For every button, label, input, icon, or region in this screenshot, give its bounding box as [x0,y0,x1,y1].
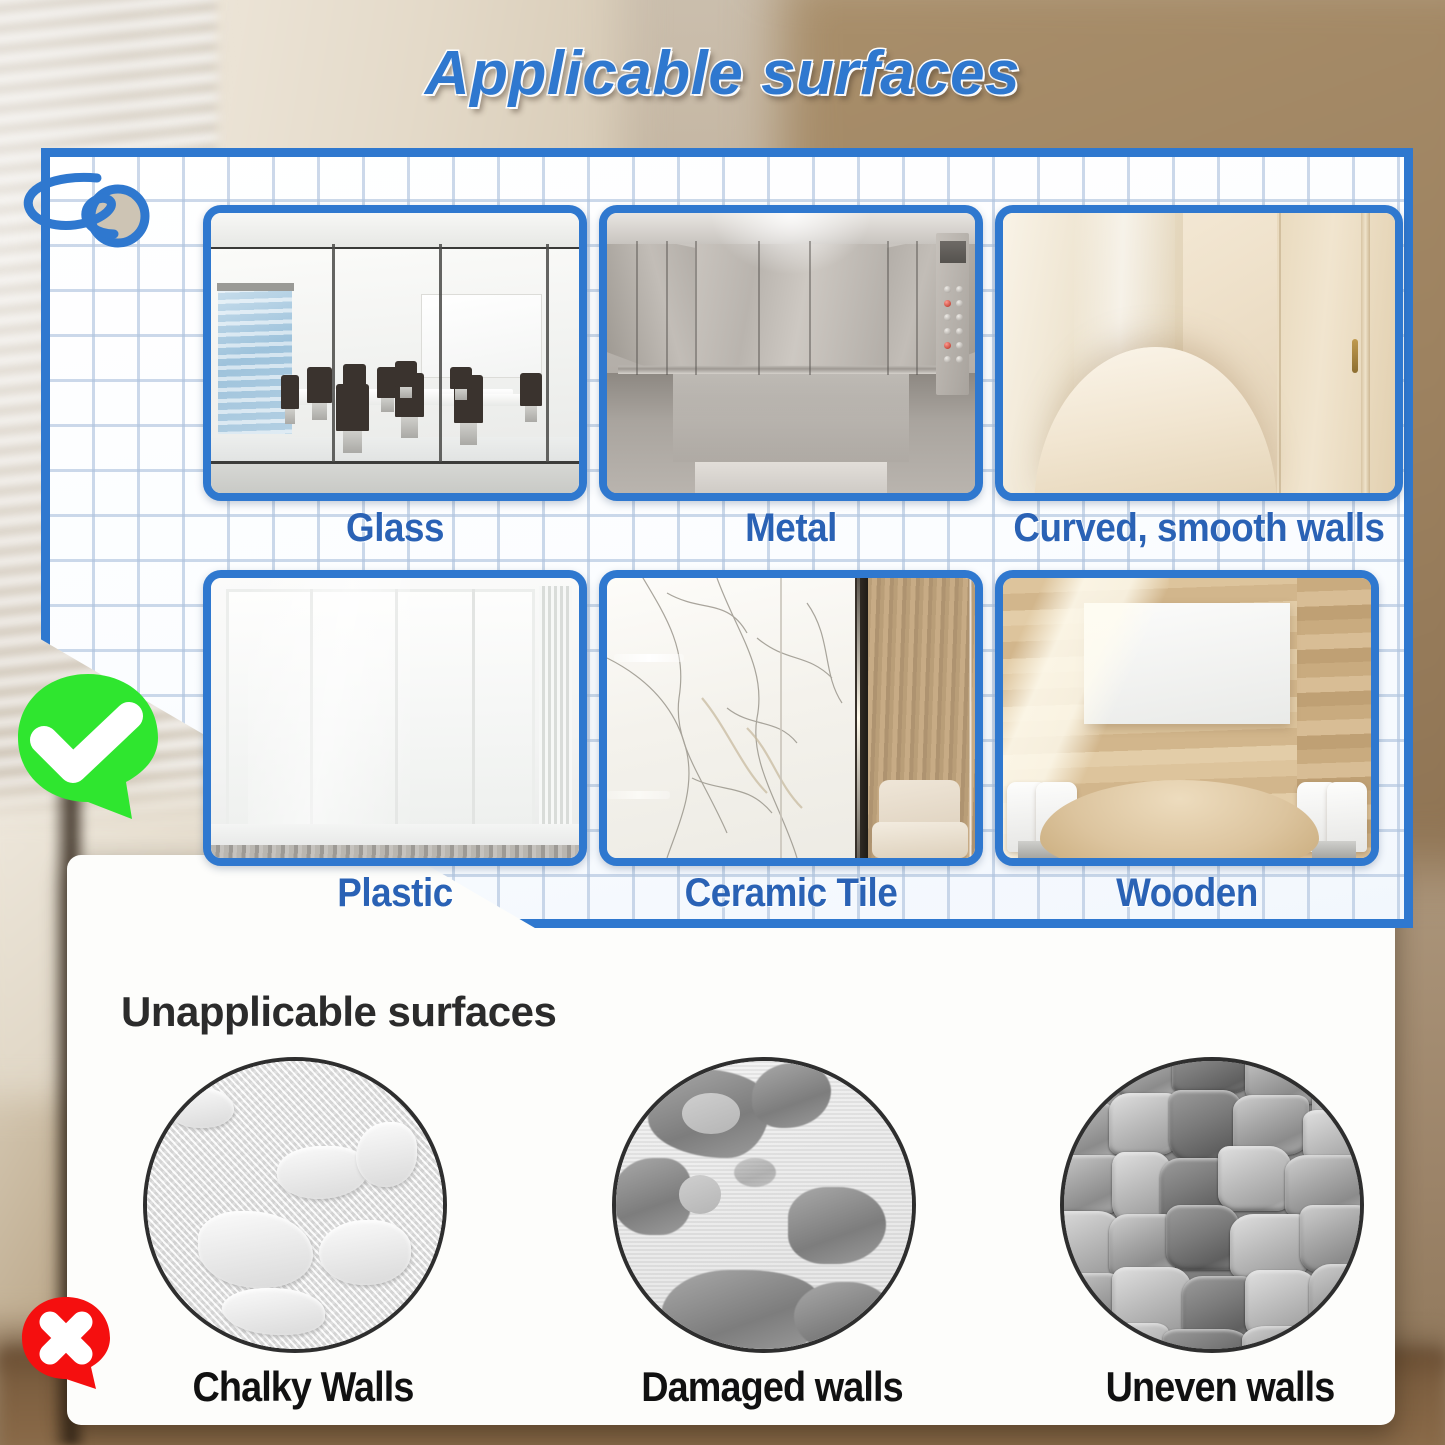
unapplicable-heading: Unapplicable surfaces [121,988,556,1036]
applicable-label: Curved, smooth walls [1011,507,1386,549]
unapplicable-label: Chalky Walls [159,1363,447,1411]
applicable-item-ceramic-tile[interactable]: Ceramic Tile [599,570,983,914]
check-icon [8,672,176,822]
applicable-label: Metal [614,507,967,549]
applicable-label: Plastic [218,872,571,914]
applicable-item-curved-walls[interactable]: Curved, smooth walls [995,205,1403,549]
applicable-label: Ceramic Tile [614,872,967,914]
applicable-grid: Glass [203,205,1403,923]
unapplicable-item-damaged-walls[interactable]: Damaged walls [612,1057,932,1411]
applicable-item-wooden[interactable]: Wooden [995,570,1379,914]
chalky-wall-photo [143,1057,447,1353]
unapplicable-label: Damaged walls [628,1363,916,1411]
plastic-panel-photo [203,570,587,866]
wooden-wall-photo [995,570,1379,866]
glass-photo [203,205,587,501]
stone-wall-photo [1060,1057,1364,1353]
infographic-stage: Applicable surfaces [0,0,1445,1445]
metal-elevator-photo [599,205,983,501]
unapplicable-grid: Chalky Walls Damaged walls [100,1057,1370,1427]
applicable-label: Glass [218,507,571,549]
curved-wall-photo [995,205,1403,501]
unapplicable-item-uneven-walls[interactable]: Uneven walls [1060,1057,1380,1411]
page-title: Applicable surfaces [0,38,1445,109]
applicable-item-glass[interactable]: Glass [203,205,587,549]
unapplicable-label: Uneven walls [1076,1363,1364,1411]
paper-clip-pin-icon [14,168,164,260]
applicable-item-metal[interactable]: Metal [599,205,983,549]
ceramic-tile-photo [599,570,983,866]
applicable-label: Wooden [1010,872,1363,914]
applicable-item-plastic[interactable]: Plastic [203,570,587,914]
damaged-wall-photo [612,1057,916,1353]
unapplicable-item-chalky-walls[interactable]: Chalky Walls [143,1057,463,1411]
